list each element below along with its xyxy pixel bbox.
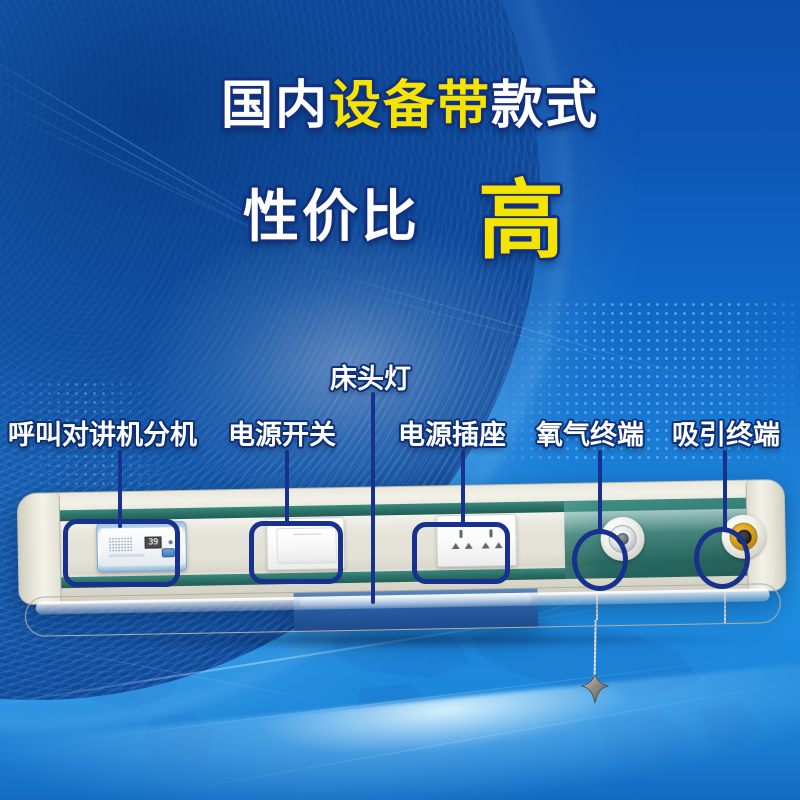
leader-line-oxygen-terminal [598, 450, 602, 532]
callout-label-bed-lamp: 床头灯 [330, 357, 411, 396]
leader-line-power-switch [285, 450, 289, 526]
highlight-box-power-switch [249, 521, 343, 584]
panel-end-cap-left [17, 492, 62, 605]
cross-clip-icon [578, 672, 612, 706]
callout-label-oxygen-terminal: 氧气终端 [536, 413, 644, 452]
headline-block: 国内设备带款式 性价比高 [0, 80, 800, 275]
headline-line-1: 国内设备带款式 [0, 80, 800, 132]
leader-line-bed-lamp [371, 392, 375, 604]
highlight-box-power-socket [412, 522, 510, 584]
leader-line-suction-terminal [723, 450, 727, 530]
headline-seg-3: 款式 [491, 80, 599, 132]
headline-emphasis-char: 高 [478, 150, 567, 275]
callout-label-suction-terminal: 吸引终端 [672, 413, 780, 452]
callout-label-power-socket: 电源插座 [398, 413, 506, 452]
callout-label-intercom: 呼叫对讲机分机 [8, 413, 197, 452]
highlight-ellipse-suction [694, 527, 750, 589]
headline-line-2: 性价比高 [0, 150, 800, 275]
promo-stage: 国内设备带款式 性价比高 呼叫对讲机分机 电源开关 床头灯 电源插座 氧气终端 … [0, 0, 800, 800]
headline-seg-2: 设备带 [329, 80, 491, 132]
callout-label-power-switch: 电源开关 [228, 413, 336, 452]
leader-line-intercom [118, 450, 122, 528]
headline-value-text: 性价比 [243, 172, 420, 253]
leader-line-power-socket [461, 450, 465, 524]
highlight-box-intercom [63, 519, 180, 587]
headline-seg-1: 国内 [221, 80, 329, 132]
highlight-ellipse-oxygen [572, 529, 628, 591]
